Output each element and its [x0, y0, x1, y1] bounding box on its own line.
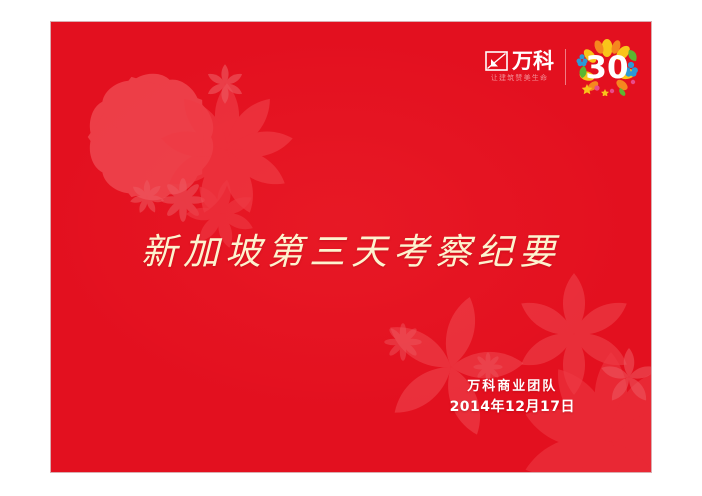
anniversary-30-logo: 30 30	[575, 38, 639, 96]
logo-block: 万科 让建筑赞美生命	[485, 38, 639, 96]
flower-tiny-a	[129, 180, 164, 215]
flower-daisy-medium-topleft	[159, 83, 295, 217]
flower-sixpetal-bottomright	[516, 273, 633, 395]
slide-canvas: 万科 让建筑赞美生命	[0, 0, 702, 496]
logo-divider	[565, 49, 566, 85]
vanke-wordmark: 万科	[512, 51, 554, 71]
vanke-logo: 万科 让建筑赞美生命	[485, 51, 554, 83]
vanke-tagline: 让建筑赞美生命	[491, 74, 548, 83]
flower-star-small-topleft	[206, 64, 244, 103]
flower-star-small-bottomright	[600, 348, 651, 404]
footer-date: 2014年12月17日	[450, 398, 575, 417]
vanke-logo-top: 万科	[485, 51, 554, 71]
vanke-square-mark-icon	[485, 51, 508, 71]
flower-tiny-b	[161, 178, 205, 222]
presentation-title-slide: 万科 让建筑赞美生命	[51, 22, 651, 472]
flower-tiny-bottomright-a	[384, 323, 421, 360]
flower-fivepetal-bottomright	[383, 294, 524, 440]
slide-title: 新加坡第三天考察纪要	[51, 231, 651, 275]
footer-block: 万科商业团队 2014年12月17日	[450, 378, 575, 417]
footer-organization: 万科商业团队	[450, 378, 575, 396]
anniversary-number-text: 30	[585, 50, 628, 86]
flower-heart-large	[71, 49, 239, 226]
